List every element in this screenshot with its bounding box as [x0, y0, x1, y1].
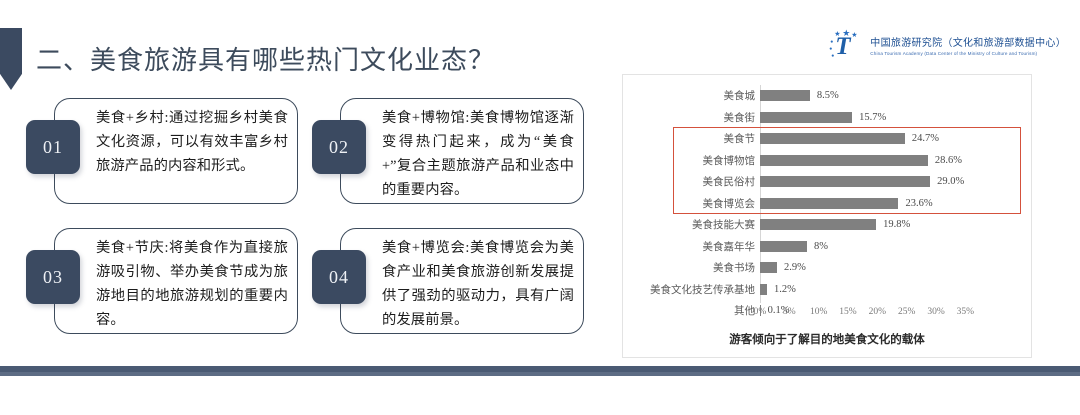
- chart-bar: [760, 198, 898, 209]
- chart-bar-value: 19.8%: [883, 219, 910, 230]
- chart-x-tick: 30%: [927, 307, 944, 317]
- card-number-badge: 02: [312, 120, 366, 174]
- chart-x-tick: 35%: [957, 307, 974, 317]
- chart-bar: [760, 241, 807, 252]
- chart-bar-label: 美食节: [623, 131, 760, 146]
- info-card-04: 04 美食+博览会:美食博览会为美食产业和美食旅游创新发展提供了强劲的驱动力，具…: [312, 228, 584, 334]
- chart-bar-label: 美食文化技艺传承基地: [623, 282, 760, 297]
- info-card-02: 02 美食+博物馆:美食博物馆逐渐变得热门起来，成为“美食+”复合主题旅游产品和…: [312, 98, 584, 204]
- chart-bar-label: 美食民俗村: [623, 174, 760, 189]
- bar-chart-panel: 美食城8.5%美食街15.7%美食节24.7%美食博物馆28.6%美食民俗村29…: [622, 74, 1032, 358]
- chart-bar-track: 2.9%: [760, 257, 1031, 279]
- chart-bar-label: 美食博览会: [623, 196, 760, 211]
- chart-bar: [760, 112, 852, 123]
- organization-logo: ★ ★ ★ ● ● ● T 中国旅游研究院（文化和旅游部数据中心） China …: [829, 30, 1066, 60]
- chart-x-tick: 10%: [810, 307, 827, 317]
- chart-bar-row: 美食博物馆28.6%: [623, 150, 1031, 172]
- chart-bar-track: 23.6%: [760, 193, 1031, 215]
- chart-bar-value: 29.0%: [937, 176, 964, 187]
- tourism-academy-t-logo-icon: ★ ★ ★ ● ● ● T: [829, 30, 863, 60]
- chart-bar-value: 8%: [814, 241, 828, 252]
- logo-text-group: 中国旅游研究院（文化和旅游部数据中心） China Tourism Academ…: [870, 34, 1066, 56]
- chart-bar-track: 28.6%: [760, 150, 1031, 172]
- letter-t-mark: T: [835, 34, 850, 59]
- chart-bar-label: 美食书场: [623, 260, 760, 275]
- chart-bar-row: 美食博览会23.6%: [623, 193, 1031, 215]
- chart-bar-label: 美食嘉年华: [623, 239, 760, 254]
- chart-bar: [760, 219, 876, 230]
- chart-bar: [760, 133, 905, 144]
- chart-bar-label: 美食技能大赛: [623, 217, 760, 232]
- chart-bar-row: 美食文化技艺传承基地1.2%: [623, 279, 1031, 301]
- chart-x-tick: 15%: [839, 307, 856, 317]
- chart-x-tick: 0%: [754, 307, 767, 317]
- chart-bar: [760, 284, 767, 295]
- chart-bar-value: 8.5%: [817, 90, 839, 101]
- star-icon: ★: [851, 31, 857, 39]
- chart-bar-label: 美食城: [623, 88, 760, 103]
- chart-bar: [760, 155, 928, 166]
- chart-bar: [760, 262, 777, 273]
- chart-bar-row: 美食技能大赛19.8%: [623, 214, 1031, 236]
- chart-caption: 游客倾向于了解目的地美食文化的载体: [623, 331, 1031, 347]
- chart-bar-label: 美食博物馆: [623, 153, 760, 168]
- chart-x-tick: 20%: [869, 307, 886, 317]
- info-card-03: 03 美食+节庆:将美食作为直接旅游吸引物、举办美食节成为旅游地目的地旅游规划的…: [26, 228, 298, 334]
- chart-bar-row: 美食民俗村29.0%: [623, 171, 1031, 193]
- chart-bar-track: 8%: [760, 236, 1031, 258]
- chart-bar-label: 其他: [623, 303, 760, 318]
- chart-bar-value: 24.7%: [912, 133, 939, 144]
- logo-name-en: China Tourism Academy (Data Center of th…: [870, 51, 1066, 56]
- card-number-badge: 01: [26, 120, 80, 174]
- chart-bar-track: 1.2%: [760, 279, 1031, 301]
- chart-bar-row: 美食节24.7%: [623, 128, 1031, 150]
- chart-bar-track: 19.8%: [760, 214, 1031, 236]
- chart-bar-value: 15.7%: [859, 112, 886, 123]
- dot-icon: ●: [831, 53, 834, 61]
- chart-bar: [760, 176, 930, 187]
- chart-bar-track: 15.7%: [760, 107, 1031, 129]
- chart-bar-row: 美食城8.5%: [623, 85, 1031, 107]
- chart-bar-value: 28.6%: [935, 155, 962, 166]
- chart-bar-value: 23.6%: [905, 198, 932, 209]
- chart-bar-value: 1.2%: [774, 284, 796, 295]
- card-body-text: 美食+博物馆:美食博物馆逐渐变得热门起来，成为“美食+”复合主题旅游产品和业态中…: [382, 106, 574, 202]
- chart-bar-track: 24.7%: [760, 128, 1031, 150]
- card-body-text: 美食+节庆:将美食作为直接旅游吸引物、举办美食节成为旅游地目的地旅游规划的重要内…: [96, 236, 288, 332]
- chart-bar-row: 美食街15.7%: [623, 107, 1031, 129]
- chart-bar-value: 2.9%: [784, 262, 806, 273]
- chart-bar: [760, 90, 810, 101]
- chart-plot-area: 美食城8.5%美食街15.7%美食节24.7%美食博物馆28.6%美食民俗村29…: [623, 85, 1031, 303]
- info-card-01: 01 美食+乡村:通过挖掘乡村美食文化资源，可以有效丰富乡村旅游产品的内容和形式…: [26, 98, 298, 204]
- chart-bar-track: 8.5%: [760, 85, 1031, 107]
- left-accent-shield: [0, 28, 22, 90]
- chart-bar-track: 29.0%: [760, 171, 1031, 193]
- card-body-text: 美食+博览会:美食博览会为美食产业和美食旅游创新发展提供了强劲的驱动力，具有广阔…: [382, 236, 574, 332]
- footer-bar-shade: [0, 372, 1080, 376]
- page-title: 二、美食旅游具有哪些热门文化业态？: [36, 40, 495, 77]
- chart-x-tick: 25%: [898, 307, 915, 317]
- chart-bar-row: 美食嘉年华8%: [623, 236, 1031, 258]
- card-number-badge: 03: [26, 250, 80, 304]
- chart-bar-label: 美食街: [623, 110, 760, 125]
- card-number-badge: 04: [312, 250, 366, 304]
- chart-x-tick: 5%: [783, 307, 796, 317]
- chart-bar-row: 美食书场2.9%: [623, 257, 1031, 279]
- card-body-text: 美食+乡村:通过挖掘乡村美食文化资源，可以有效丰富乡村旅游产品的内容和形式。: [96, 106, 288, 178]
- logo-name-cn: 中国旅游研究院（文化和旅游部数据中心）: [870, 34, 1066, 49]
- chart-x-axis: 0%5%10%15%20%25%30%35%: [760, 307, 1023, 323]
